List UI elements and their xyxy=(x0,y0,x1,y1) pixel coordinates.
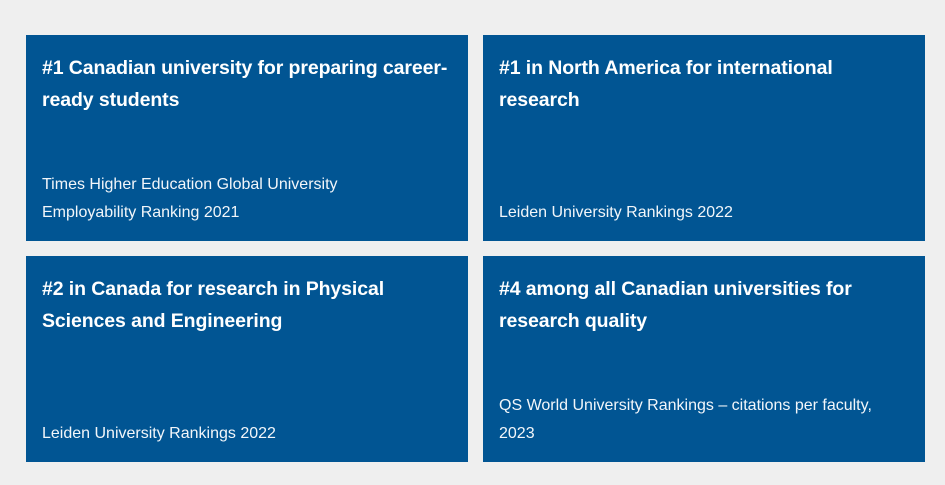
ranking-source: QS World University Rankings – citations… xyxy=(499,392,881,448)
ranking-card-3[interactable]: #2 in Canada for research in Physical Sc… xyxy=(26,256,468,462)
ranking-card-2[interactable]: #1 in North America for international re… xyxy=(483,35,925,241)
ranking-source: Leiden University Rankings 2022 xyxy=(42,420,424,448)
ranking-card-1[interactable]: #1 Canadian university for preparing car… xyxy=(26,35,468,241)
ranking-source: Leiden University Rankings 2022 xyxy=(499,199,881,227)
ranking-source: Times Higher Education Global University… xyxy=(42,171,424,227)
ranking-headline: #2 in Canada for research in Physical Sc… xyxy=(42,273,452,337)
ranking-headline: #4 among all Canadian universities for r… xyxy=(499,273,909,337)
rankings-grid: #1 Canadian university for preparing car… xyxy=(26,35,925,462)
ranking-headline: #1 in North America for international re… xyxy=(499,52,909,116)
ranking-card-4[interactable]: #4 among all Canadian universities for r… xyxy=(483,256,925,462)
ranking-headline: #1 Canadian university for preparing car… xyxy=(42,52,452,116)
